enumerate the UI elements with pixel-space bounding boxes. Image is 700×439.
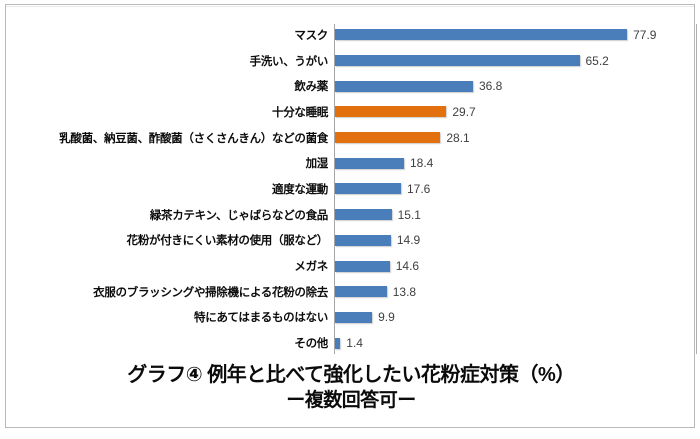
figure-frame: マスク77.9手洗い、うがい65.2飲み薬36.8十分な睡眠29.7乳酸菌、納豆… (5, 4, 695, 428)
chart-title: グラフ④ 例年と比べて強化したい花粉症対策（%） (6, 363, 696, 388)
category-label: 十分な睡眠 (8, 104, 328, 120)
value-label: 18.4 (410, 156, 433, 170)
bar-and-value: 14.9 (335, 228, 420, 254)
category-label: 飲み薬 (8, 78, 328, 94)
bar-row: 手洗い、うがい65.2 (12, 48, 700, 74)
value-label: 36.8 (479, 79, 502, 93)
bar-row: 十分な睡眠29.7 (12, 99, 700, 125)
value-label: 14.9 (397, 233, 420, 247)
bar (335, 29, 627, 40)
value-label: 29.7 (452, 105, 475, 119)
bar (335, 55, 580, 66)
bar-row: 乳酸菌、納豆菌、酢酸菌（さくさんきん）などの菌食28.1 (12, 125, 700, 151)
bar-and-value: 18.4 (335, 150, 433, 176)
bar-and-value: 28.1 (335, 125, 470, 151)
bar (335, 106, 446, 117)
chart-title-block: グラフ④ 例年と比べて強化したい花粉症対策（%） ー複数回答可ー (6, 363, 696, 413)
bar-and-value: 1.4 (335, 330, 363, 356)
bar-and-value: 9.9 (335, 305, 395, 331)
bar-and-value: 77.9 (335, 22, 656, 48)
value-label: 65.2 (586, 54, 609, 68)
bar (335, 338, 340, 349)
bar-row: 加湿18.4 (12, 150, 700, 176)
bar-row: 特にあてはまるものはない9.9 (12, 305, 700, 331)
bar-row: 飲み薬36.8 (12, 73, 700, 99)
bar-row: 衣服のブラッシングや掃除機による花粉の除去13.8 (12, 279, 700, 305)
bar-row: その他1.4 (12, 330, 700, 356)
value-label: 9.9 (378, 310, 395, 324)
bar (335, 209, 392, 220)
category-label: 緑茶カテキン、じゃばらなどの食品 (8, 207, 328, 223)
bar-and-value: 15.1 (335, 202, 421, 228)
category-label: 加湿 (8, 155, 328, 171)
bar-row: 適度な運動17.6 (12, 176, 700, 202)
bar (335, 132, 440, 143)
bar (335, 286, 387, 297)
category-label: 乳酸菌、納豆菌、酢酸菌（さくさんきん）などの菌食 (8, 130, 328, 146)
value-label: 28.1 (446, 131, 469, 145)
value-label: 14.6 (396, 259, 419, 273)
value-label: 13.8 (393, 285, 416, 299)
bar (335, 81, 473, 92)
chart-screenshot: マスク77.9手洗い、うがい65.2飲み薬36.8十分な睡眠29.7乳酸菌、納豆… (0, 0, 700, 439)
value-label: 17.6 (407, 182, 430, 196)
plot-area: マスク77.9手洗い、うがい65.2飲み薬36.8十分な睡眠29.7乳酸菌、納豆… (12, 10, 700, 358)
category-label: 花粉が付きにくい素材の使用（服など） (8, 232, 328, 248)
bar-and-value: 29.7 (335, 99, 476, 125)
bar (335, 312, 372, 323)
category-label: その他 (8, 335, 328, 351)
category-label: 衣服のブラッシングや掃除機による花粉の除去 (8, 284, 328, 300)
bar (335, 261, 390, 272)
bar-row: 花粉が付きにくい素材の使用（服など）14.9 (12, 228, 700, 254)
bar-rows: マスク77.9手洗い、うがい65.2飲み薬36.8十分な睡眠29.7乳酸菌、納豆… (12, 22, 700, 356)
category-label: 手洗い、うがい (8, 53, 328, 69)
bar-row: 緑茶カテキン、じゃばらなどの食品15.1 (12, 202, 700, 228)
chart-subtitle: ー複数回答可ー (6, 389, 696, 413)
bar-and-value: 13.8 (335, 279, 416, 305)
bar (335, 158, 404, 169)
value-label: 15.1 (398, 208, 421, 222)
bar-row: マスク77.9 (12, 22, 700, 48)
category-label: メガネ (8, 258, 328, 274)
category-label: マスク (8, 27, 328, 43)
bar-and-value: 65.2 (335, 48, 609, 74)
value-label: 1.4 (346, 336, 363, 350)
category-label: 特にあてはまるものはない (8, 309, 328, 325)
bar-and-value: 14.6 (335, 253, 419, 279)
value-label: 77.9 (633, 28, 656, 42)
bar (335, 235, 391, 246)
bar (335, 183, 401, 194)
bar-row: メガネ14.6 (12, 253, 700, 279)
category-label: 適度な運動 (8, 181, 328, 197)
bar-and-value: 36.8 (335, 73, 502, 99)
bar-and-value: 17.6 (335, 176, 430, 202)
